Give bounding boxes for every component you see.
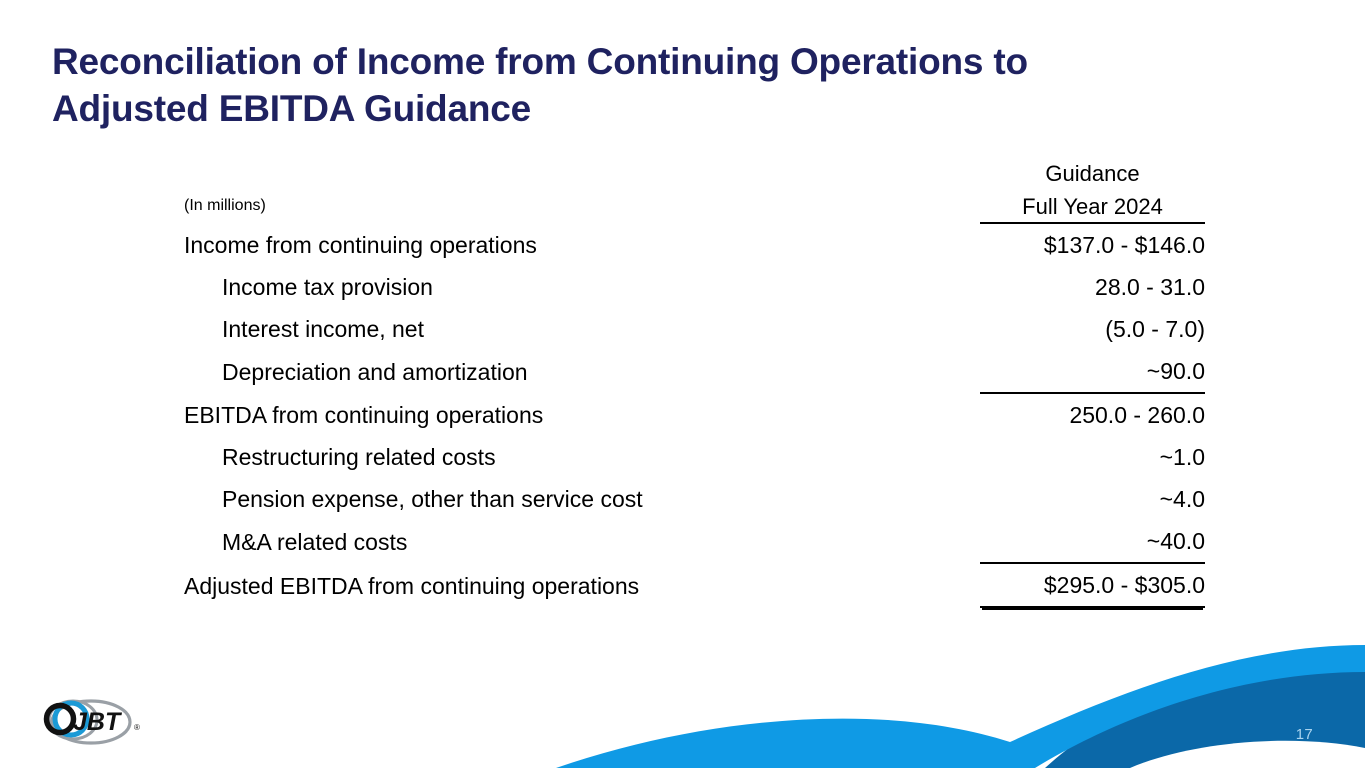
row-value: ~40.0 <box>980 520 1205 563</box>
row-value: $137.0 - $146.0 <box>980 223 1205 266</box>
units-label: (In millions) <box>184 189 980 223</box>
header-spacer-cell <box>184 158 980 189</box>
column-header-full-year: Full Year 2024 <box>980 189 1205 223</box>
wave-light-shape <box>556 645 1365 768</box>
row-label: Income tax provision <box>184 266 980 308</box>
wave-white-cut-shape <box>1130 741 1365 768</box>
row-label: Depreciation and amortization <box>184 350 980 393</box>
row-label: Adjusted EBITDA from continuing operatio… <box>184 563 980 607</box>
row-label: Pension expense, other than service cost <box>184 478 980 520</box>
row-value: 28.0 - 31.0 <box>980 266 1205 308</box>
table-row: Income from continuing operations$137.0 … <box>184 223 1205 266</box>
table-row: Restructuring related costs~1.0 <box>184 436 1205 478</box>
table-row: Pension expense, other than service cost… <box>184 478 1205 520</box>
table-row: Income tax provision28.0 - 31.0 <box>184 266 1205 308</box>
slide-canvas: Reconciliation of Income from Continuing… <box>0 0 1365 768</box>
page-title: Reconciliation of Income from Continuing… <box>52 38 1182 132</box>
row-value: ~4.0 <box>980 478 1205 520</box>
row-value: ~1.0 <box>980 436 1205 478</box>
table-row: Adjusted EBITDA from continuing operatio… <box>184 563 1205 607</box>
reconciliation-table: Guidance (In millions) Full Year 2024 In… <box>184 158 1205 608</box>
logo-wordmark: JBT <box>73 708 123 736</box>
table-row: Depreciation and amortization~90.0 <box>184 350 1205 393</box>
table-header-row-2: (In millions) Full Year 2024 <box>184 189 1205 223</box>
row-label: M&A related costs <box>184 520 980 563</box>
table-row: EBITDA from continuing operations250.0 -… <box>184 393 1205 436</box>
table-row: M&A related costs~40.0 <box>184 520 1205 563</box>
table-header-row-1: Guidance <box>184 158 1205 189</box>
page-number: 17 <box>1296 726 1313 743</box>
row-label: Restructuring related costs <box>184 436 980 478</box>
row-label: Income from continuing operations <box>184 223 980 266</box>
row-value: (5.0 - 7.0) <box>980 308 1205 350</box>
row-value: $295.0 - $305.0 <box>980 563 1205 607</box>
reconciliation-table-container: Guidance (In millions) Full Year 2024 In… <box>184 158 1208 608</box>
row-label: Interest income, net <box>184 308 980 350</box>
row-value: 250.0 - 260.0 <box>980 393 1205 436</box>
logo-trademark-icon: ® <box>134 723 140 732</box>
wave-dark-shape <box>1045 648 1365 768</box>
column-header-guidance: Guidance <box>980 158 1205 189</box>
table-row: Interest income, net(5.0 - 7.0) <box>184 308 1205 350</box>
row-value: ~90.0 <box>980 350 1205 393</box>
table-body: Guidance (In millions) Full Year 2024 In… <box>184 158 1205 607</box>
jbt-logo: JBT ® <box>33 694 145 750</box>
row-label: EBITDA from continuing operations <box>184 393 980 436</box>
